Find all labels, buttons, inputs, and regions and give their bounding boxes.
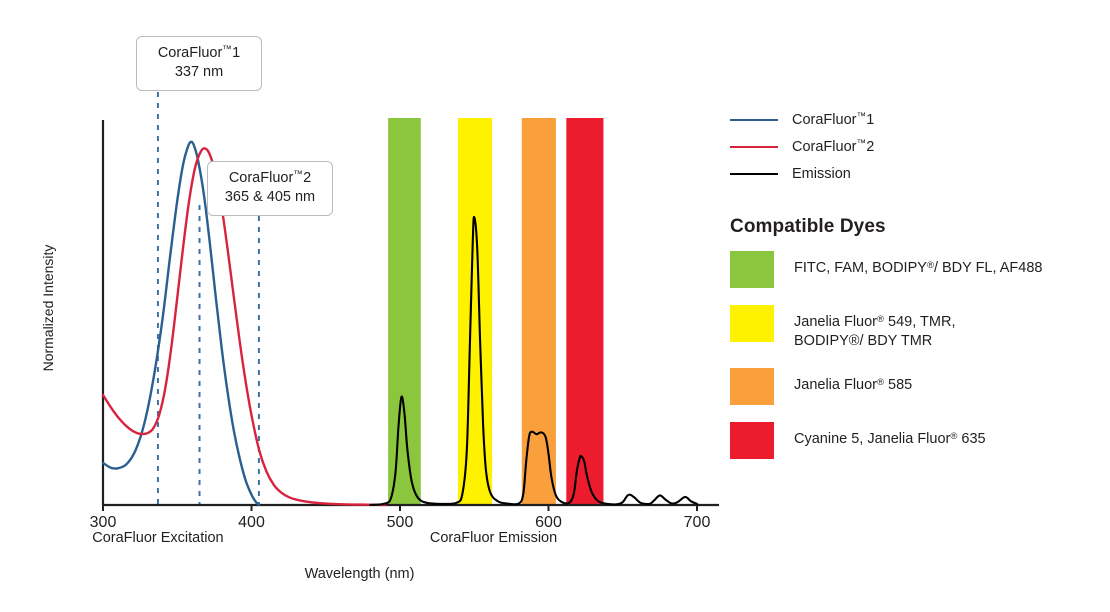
dye-legend-row-2: Janelia Fluor® 585 bbox=[730, 368, 1100, 405]
dye-color-swatch-3 bbox=[730, 422, 774, 459]
registered-symbol: ® bbox=[877, 377, 884, 388]
legend-series-label-2: Emission bbox=[792, 166, 851, 182]
legend-series-row-2: Emission bbox=[730, 160, 1100, 187]
registered-symbol: ® bbox=[877, 314, 884, 325]
legend-line-swatch-1 bbox=[730, 146, 778, 148]
dye-legend-label-2: Janelia Fluor® 585 bbox=[794, 368, 912, 395]
callout-cf1-line2: 337 nm bbox=[147, 63, 251, 82]
registered-symbol: ® bbox=[950, 431, 957, 442]
compatible-dyes-title: Compatible Dyes bbox=[730, 216, 1100, 238]
dye-legend-label-1: Janelia Fluor® 549, TMR,BODIPY®/ BDY TMR bbox=[794, 305, 955, 351]
legend-line-swatch-0 bbox=[730, 119, 778, 121]
y-axis-title: Normalized Intensity bbox=[40, 218, 56, 398]
spectra-figure: CoraFluor™1 337 nm CoraFluor™2 365 & 405… bbox=[0, 0, 1110, 612]
x-tick-label-700: 700 bbox=[667, 514, 727, 532]
dye-color-swatch-0 bbox=[730, 251, 774, 288]
emission-range-caption: CoraFluor Emission bbox=[404, 530, 584, 546]
emission-band-3 bbox=[566, 118, 603, 505]
registered-symbol: ® bbox=[927, 260, 934, 271]
dye-legend-row-0: FITC, FAM, BODIPY®/ BDY FL, AF488 bbox=[730, 251, 1100, 288]
callout-cf2-line2: 365 & 405 nm bbox=[218, 188, 322, 207]
callout-cf1-line1: CoraFluor™1 bbox=[158, 45, 240, 61]
series-legend: CoraFluor™1CoraFluor™2Emission bbox=[730, 106, 1100, 187]
callout-corafluor-2: CoraFluor™2 365 & 405 nm bbox=[207, 161, 333, 216]
callout-cf2-line1: CoraFluor™2 bbox=[229, 170, 311, 186]
dye-legend-label-line2-1: BODIPY®/ BDY TMR bbox=[794, 332, 955, 351]
trademark-symbol: ™ bbox=[856, 138, 866, 149]
trademark-symbol: ™ bbox=[856, 111, 866, 122]
x-axis-title: Wavelength (nm) bbox=[0, 566, 719, 582]
dye-legend-label-3: Cyanine 5, Janelia Fluor® 635 bbox=[794, 422, 986, 449]
compatible-dyes-list: FITC, FAM, BODIPY®/ BDY FL, AF488Janelia… bbox=[730, 251, 1100, 459]
emission-band-1 bbox=[458, 118, 492, 505]
dye-legend-row-1: Janelia Fluor® 549, TMR,BODIPY®/ BDY TMR bbox=[730, 305, 1100, 351]
dye-legend-label-0: FITC, FAM, BODIPY®/ BDY FL, AF488 bbox=[794, 251, 1042, 278]
dye-color-swatch-2 bbox=[730, 368, 774, 405]
emission-band-0 bbox=[388, 118, 421, 505]
dye-legend-row-3: Cyanine 5, Janelia Fluor® 635 bbox=[730, 422, 1100, 459]
legend-series-row-1: CoraFluor™2 bbox=[730, 133, 1100, 160]
callout-corafluor-1: CoraFluor™1 337 nm bbox=[136, 36, 262, 91]
legend-panel: CoraFluor™1CoraFluor™2Emission Compatibl… bbox=[730, 106, 1100, 476]
legend-series-label-0: CoraFluor™1 bbox=[792, 111, 874, 128]
dye-color-swatch-1 bbox=[730, 305, 774, 342]
legend-series-label-1: CoraFluor™2 bbox=[792, 138, 874, 155]
legend-line-swatch-2 bbox=[730, 173, 778, 175]
legend-series-row-0: CoraFluor™1 bbox=[730, 106, 1100, 133]
excitation-range-caption: CoraFluor Excitation bbox=[68, 530, 248, 546]
